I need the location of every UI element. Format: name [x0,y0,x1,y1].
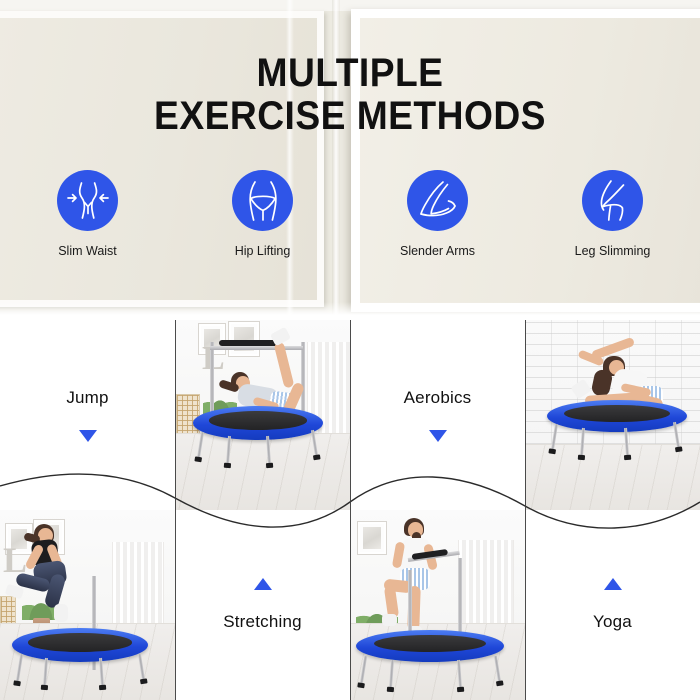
feature-label-hip-lifting: Hip Lifting [235,244,291,258]
grid-cell-stretching-label: Stretching [175,510,350,700]
feature-label-slim-waist: Slim Waist [58,244,117,258]
grid-cell-photo-side-stretch [525,320,700,510]
leg-slimming-icon [582,170,643,231]
feature-item-leg-slimming: Leg Slimming [525,170,700,258]
trampoline-oval [356,630,504,662]
grid-label-jump: Jump [66,388,108,408]
grid-cell-aerobics-label: Aerobics [350,320,525,514]
infographic-page: MULTIPLE EXERCISE METHODS Slim Waist [0,0,700,700]
wall-seam-b [332,0,340,320]
triangle-up-icon [254,578,272,590]
photo-scene-jogging: L [0,510,175,700]
trampoline [193,406,323,440]
person-shoe-front [54,604,68,622]
scene-floor [525,444,700,510]
trampoline-bar-grip [219,340,281,346]
person-shoe-raised [382,614,397,626]
grid-label-aerobics: Aerobics [404,388,472,408]
photo-scene-leg-raise: L [175,320,350,510]
feature-label-slender-arms: Slender Arms [400,244,475,258]
grid-cell-yoga-label: Yoga [525,510,700,700]
slim-waist-icon [57,170,118,231]
wall-picture [358,522,386,554]
feature-label-leg-slimming: Leg Slimming [575,244,651,258]
wall-picture [229,322,259,356]
feature-item-hip-lifting: Hip Lifting [175,170,350,258]
grid-divider-vertical [525,320,526,700]
grid-label-yoga: Yoga [593,612,632,632]
grid-cell-jump-label: Jump [0,320,175,514]
wall-seam-a [286,0,294,320]
grid-cell-photo-jogging: L [0,510,175,700]
page-title-line-1: MULTIPLE [25,52,676,95]
top-banner-panel [0,0,700,320]
triangle-down-icon [429,430,447,442]
photo-scene-side-stretch [525,320,700,510]
trampoline-bar-right [458,558,462,640]
grid-cell-photo-knee-raise [350,510,525,700]
photo-scene-knee-raise [350,510,525,700]
exercise-photo-grid: Jump L [0,320,700,700]
trampoline-bar-top [210,346,303,350]
trampoline [12,628,148,662]
grid-cell-photo-leg-raise: L [175,320,350,510]
grid-divider-vertical [175,320,176,700]
grid-divider-vertical [350,320,351,700]
page-title-line-2: EXERCISE METHODS [25,95,676,138]
panel-bottom-fade [0,302,700,320]
trampoline-mat [28,633,131,651]
hip-lifting-icon [232,170,293,231]
trampoline-mat [209,411,308,429]
slender-arms-icon [407,170,468,231]
trampoline [547,400,687,432]
feature-icon-row: Slim Waist Hip Lifting [0,170,700,258]
triangle-up-icon [604,578,622,590]
feature-item-slender-arms: Slender Arms [350,170,525,258]
feature-item-slim-waist: Slim Waist [0,170,175,258]
triangle-down-icon [79,430,97,442]
grid-label-stretching: Stretching [223,612,302,632]
page-title: MULTIPLE EXERCISE METHODS [0,52,700,138]
